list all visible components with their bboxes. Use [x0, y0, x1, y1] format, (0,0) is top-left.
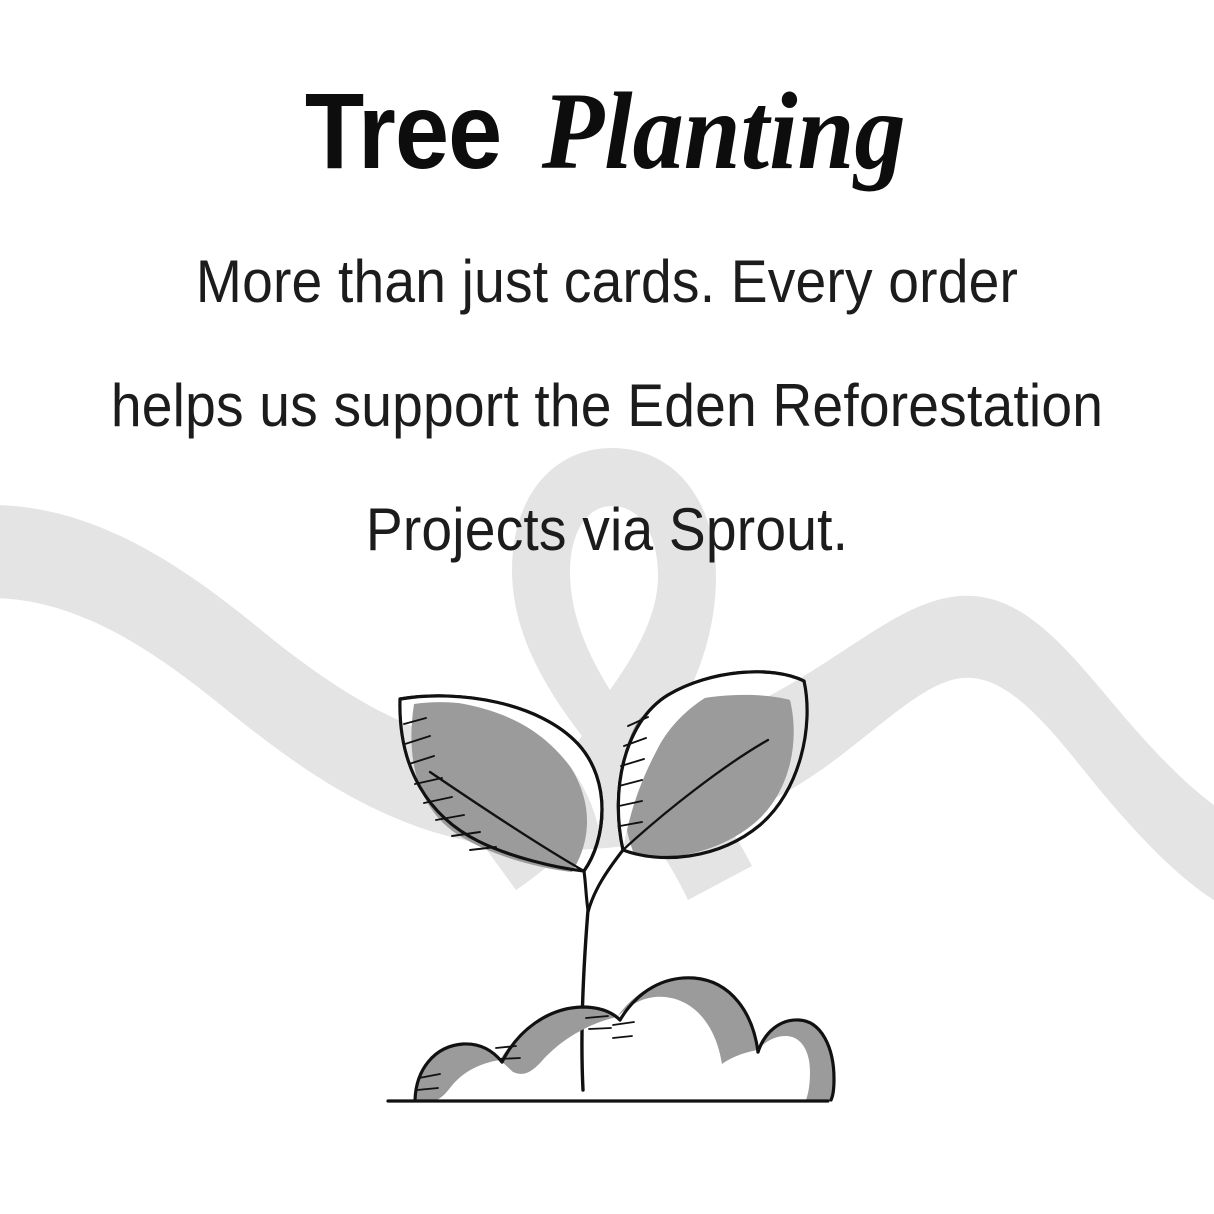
body-copy: More than just cards. Every order helps …: [0, 186, 1214, 592]
page-title: TreePlanting: [0, 0, 1214, 186]
right-leaf: [618, 671, 807, 858]
body-copy-line-2: helps us support the Eden Reforestation: [49, 344, 1166, 468]
left-leaf: [400, 696, 602, 872]
stem: [582, 850, 623, 1090]
headline-italic-part: Planting: [542, 76, 906, 186]
text-block: TreePlanting More than just cards. Every…: [0, 0, 1214, 592]
right-leaf-vein-ticks: [619, 717, 648, 826]
left-leaf-vein-ticks: [404, 718, 496, 850]
body-copy-line-1: More than just cards. Every order: [49, 220, 1166, 344]
headline-bold-part: Tree: [305, 77, 501, 185]
poster-canvas: TreePlanting More than just cards. Every…: [0, 0, 1214, 1214]
soil-texture-ticks: [417, 1016, 634, 1090]
soil-mound: [415, 978, 834, 1100]
body-copy-line-3: Projects via Sprout.: [49, 468, 1166, 592]
